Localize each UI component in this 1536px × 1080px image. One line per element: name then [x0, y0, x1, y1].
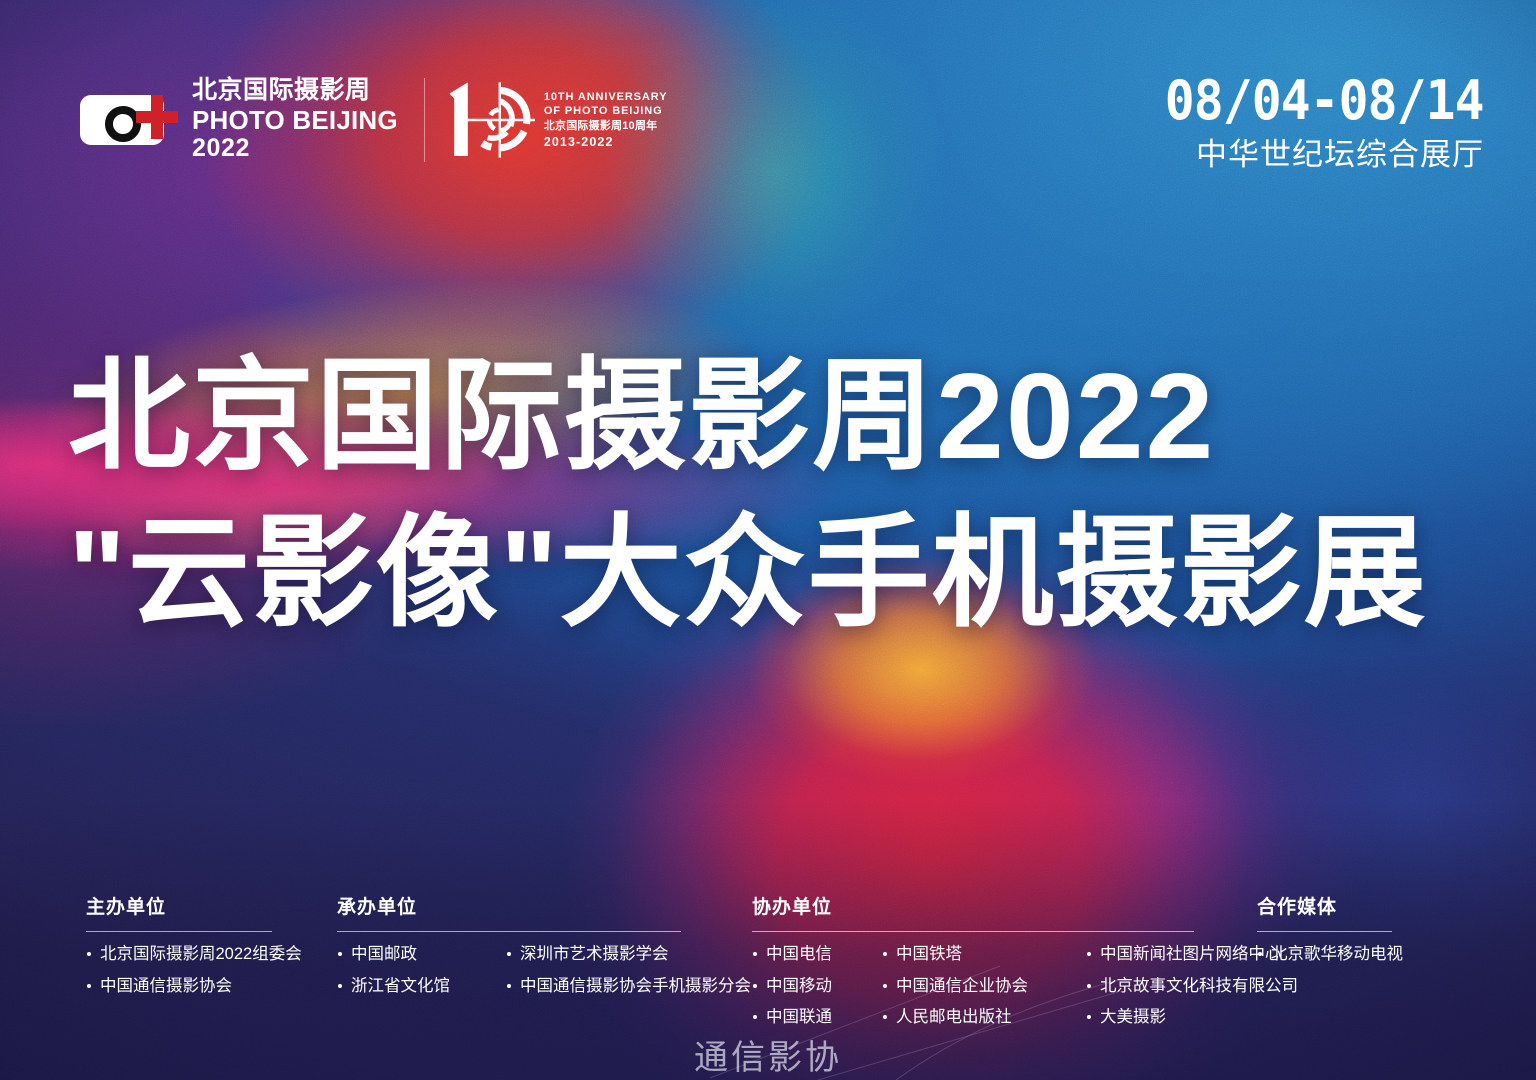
list-item: 北京国际摄影周2022组委会	[86, 946, 302, 963]
footer-column-organizer: 主办单位 北京国际摄影周2022组委会 中国通信摄影协会	[86, 898, 276, 1009]
list-item: 北京故事文化科技有限公司	[1086, 978, 1298, 995]
brand-wordmark: 北京国际摄影周 PHOTO BEIJING 2022	[192, 78, 398, 162]
event-date: 08/04-08/14	[1165, 74, 1484, 128]
list-item: 中国铁塔	[882, 946, 1028, 963]
footer-list: 北京国际摄影周2022组委会 中国通信摄影协会	[86, 946, 302, 1009]
watermark: 通信影协	[694, 1030, 842, 1079]
footer-column-heading: 合作媒体	[1257, 898, 1397, 917]
list-item: 人民邮电出版社	[882, 1009, 1028, 1026]
footer-column-heading: 承办单位	[337, 898, 685, 917]
list-item: 中国联通	[752, 1009, 832, 1026]
footer-list: 中国铁塔 中国通信企业协会 人民邮电出版社	[882, 946, 1028, 1041]
title-line-1: 北京国际摄影周2022	[68, 352, 1488, 481]
poster-canvas: 北京国际摄影周 PHOTO BEIJING 2022	[0, 0, 1536, 1080]
footer-column-rule	[1257, 931, 1392, 932]
list-item: 中国通信企业协会	[882, 978, 1028, 995]
footer-column-host: 承办单位 中国邮政 浙江省文化馆 深圳市艺术摄影学会 中国通信摄影协会手机摄影分…	[337, 898, 685, 1009]
footer-column-rule	[86, 931, 272, 932]
anniversary-line-2: OF PHOTO BEIJING	[544, 104, 668, 119]
footer-column-media: 合作媒体 北京歌华移动电视	[1257, 898, 1397, 978]
footer-column-coorganizer: 协办单位 中国电信 中国移动 中国联通 中国铁塔 中国通信企业协会 人民邮电出版…	[752, 898, 1198, 1041]
brand-year: 2022	[192, 136, 398, 162]
footer-list: 中国电信 中国移动 中国联通	[752, 946, 832, 1041]
list-item: 浙江省文化馆	[337, 978, 450, 995]
brand-name-en: PHOTO BEIJING	[192, 107, 398, 134]
list-item: 中国通信摄影协会	[86, 978, 302, 995]
list-item: 北京歌华移动电视	[1257, 946, 1403, 963]
anniversary-text: 10TH ANNIVERSARY OF PHOTO BEIJING 北京国际摄影…	[544, 90, 668, 150]
footer-list: 中国邮政 浙江省文化馆	[337, 946, 450, 1009]
footer-column-rule	[337, 931, 681, 932]
list-item: 深圳市艺术摄影学会	[506, 946, 751, 963]
brand-name-cn: 北京国际摄影周	[192, 78, 398, 104]
list-item: 中国邮政	[337, 946, 450, 963]
anniversary-lockup: 10TH ANNIVERSARY OF PHOTO BEIJING 北京国际摄影…	[447, 79, 668, 161]
title-line-2: "云影像"大众手机摄影展	[68, 509, 1488, 638]
poster-title: 北京国际摄影周2022 "云影像"大众手机摄影展	[68, 352, 1488, 639]
footer-list: 北京歌华移动电视	[1257, 946, 1403, 978]
ten-year-anniversary-mark-icon	[447, 79, 535, 161]
list-item: 中国移动	[752, 978, 832, 995]
list-item: 大美摄影	[1086, 1009, 1298, 1026]
footer-column-heading: 主办单位	[86, 898, 276, 917]
list-item: 中国通信摄影协会手机摄影分会	[506, 978, 751, 995]
event-venue: 中华世纪坛综合展厅	[1137, 139, 1484, 170]
poster-header: 北京国际摄影周 PHOTO BEIJING 2022	[0, 0, 1536, 200]
footer-list: 深圳市艺术摄影学会 中国通信摄影协会手机摄影分会	[506, 946, 751, 1009]
anniversary-line-3: 北京国际摄影周10周年	[544, 119, 668, 134]
camera-plus-logo-icon	[80, 89, 176, 151]
event-date-block: 08/04-08/14 中华世纪坛综合展厅	[1137, 74, 1484, 170]
plus-icon	[136, 95, 178, 139]
footer-column-heading: 协办单位	[752, 898, 1198, 917]
anniversary-line-4: 2013-2022	[544, 134, 668, 151]
brand-lockup: 北京国际摄影周 PHOTO BEIJING 2022	[80, 78, 667, 162]
lockup-divider	[424, 78, 425, 162]
footer-column-rule	[752, 931, 1194, 932]
list-item: 中国电信	[752, 946, 832, 963]
anniversary-line-1: 10TH ANNIVERSARY	[544, 90, 668, 105]
